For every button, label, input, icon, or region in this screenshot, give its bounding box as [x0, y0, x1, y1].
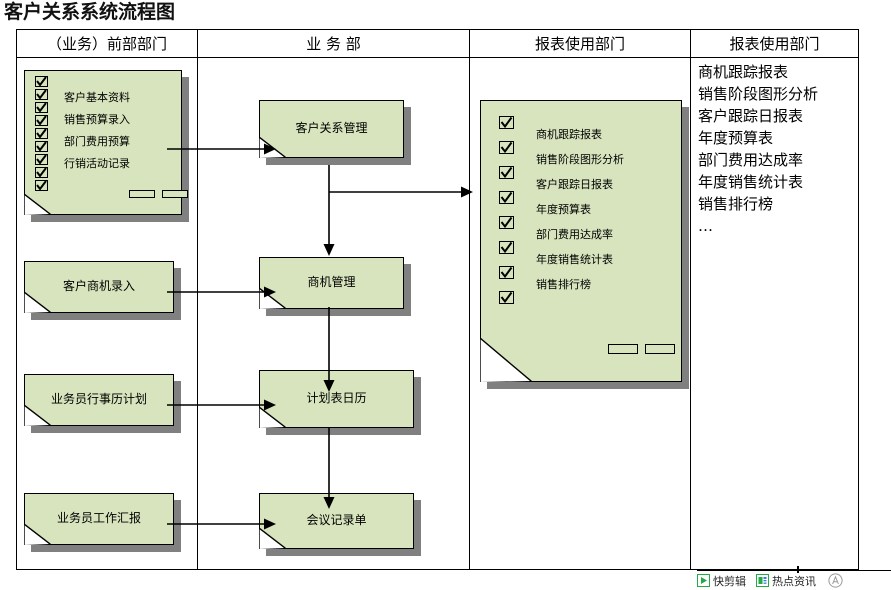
connector-calendar-down-to-meeting: [322, 428, 336, 510]
document-row-list: 商机跟踪报表 销售阶段图形分析 客户跟踪日报表 年度预算表 部门费用达成率 年度…: [536, 122, 624, 297]
checkmark-box-icon: [499, 291, 514, 304]
report-list-item: 销售排行榜: [698, 193, 818, 215]
box-customer-relationship-management[interactable]: 客户关系管理: [259, 100, 404, 158]
document-row: 部门费用达成率: [536, 222, 624, 247]
page-fold-corner-icon: [24, 194, 51, 215]
box-salesperson-calendar-plan[interactable]: 业务员行事历计划: [24, 374, 174, 426]
report-list-item: …: [698, 215, 818, 237]
document-mini-button[interactable]: [645, 344, 675, 354]
column-divider-1: [197, 30, 198, 569]
connector-opportunity-down-to-calendar: [322, 307, 336, 393]
taskbar[interactable]: 快剪辑 热点资讯: [697, 570, 891, 590]
box-salesperson-work-report[interactable]: 业务员工作汇报: [24, 493, 174, 545]
checkmark-box-icon: [35, 102, 48, 113]
checkmark-box-icon: [35, 141, 48, 152]
checkmark-box-icon: [35, 154, 48, 165]
report-list-item: 客户跟踪日报表: [698, 105, 818, 127]
document-customer-data-entry[interactable]: 客户基本资料 销售预算录入 部门费用预算 行销活动记录: [24, 70, 182, 215]
checkmark-box-icon: [499, 191, 514, 204]
checkmark-box-icon: [499, 116, 514, 129]
column-divider-3: [690, 30, 691, 569]
document-mini-button[interactable]: [608, 344, 638, 354]
checkmark-box-icon: [35, 115, 48, 126]
connector-opportunity-entry-to-opportunity-mgmt: [167, 285, 277, 299]
box-meeting-record-form[interactable]: 会议记录单: [259, 493, 414, 549]
document-row: 商机跟踪报表: [536, 122, 624, 147]
document-row: 部门费用预算: [64, 131, 130, 153]
document-button-group[interactable]: [129, 190, 188, 198]
document-row: 年度销售统计表: [536, 247, 624, 272]
checkmark-box-icon: [499, 216, 514, 229]
column-divider-2: [469, 30, 470, 569]
checkmark-box-icon: [499, 141, 514, 154]
swimlane-header-row: （业务）前部部门 业 务 部 报表使用部门 报表使用部门: [17, 30, 858, 58]
checkmark-box-icon: [35, 76, 48, 87]
document-row: 客户基本资料: [64, 87, 130, 109]
connector-customer-data-to-crm: [167, 142, 277, 156]
report-list-item: 部门费用达成率: [698, 149, 818, 171]
taskbar-item-quick-edit[interactable]: 快剪辑: [697, 573, 746, 589]
connector-calendar-plan-to-schedule: [167, 398, 277, 412]
news-panel-icon: [756, 574, 769, 587]
box-customer-opportunity-entry[interactable]: 客户商机录入: [24, 261, 174, 313]
document-row: 销售阶段图形分析: [536, 147, 624, 172]
box-schedule-calendar[interactable]: 计划表日历: [259, 370, 414, 428]
column-header-business-department: 业 务 部: [198, 30, 469, 58]
document-row-list: 客户基本资料 销售预算录入 部门费用预算 行销活动记录: [64, 87, 130, 175]
play-button-icon: [697, 574, 710, 587]
page-fold-corner-icon: [480, 338, 532, 382]
connector-middle-to-report-document: [329, 185, 474, 199]
taskbar-tick-mark: [797, 566, 799, 573]
page-fold-corner-icon: [24, 405, 51, 426]
page-title: 客户关系系统流程图: [4, 0, 175, 24]
document-row: 销售预算录入: [64, 109, 130, 131]
page-fold-corner-icon: [259, 528, 286, 549]
report-list-item: 销售阶段图形分析: [698, 83, 818, 105]
document-report-output[interactable]: 商机跟踪报表 销售阶段图形分析 客户跟踪日报表 年度预算表 部门费用达成率 年度…: [480, 100, 682, 382]
document-row: 客户跟踪日报表: [536, 172, 624, 197]
document-mini-button[interactable]: [129, 190, 155, 198]
checkmark-box-icon: [35, 167, 48, 178]
taskbar-item-label: 快剪辑: [713, 573, 746, 589]
report-name-list: 商机跟踪报表 销售阶段图形分析 客户跟踪日报表 年度预算表 部门费用达成率 年度…: [698, 61, 818, 237]
document-row: 销售排行榜: [536, 272, 624, 297]
taskbar-item-hot-news[interactable]: 热点资讯: [756, 573, 816, 589]
document-mini-button[interactable]: [162, 190, 188, 198]
connector-work-report-to-meeting-record: [167, 517, 277, 531]
document-row: 行销活动记录: [64, 153, 130, 175]
report-list-item: 年度销售统计表: [698, 171, 818, 193]
checkbox-icon-column: [35, 76, 48, 193]
column-header-report-users-1: 报表使用部门: [470, 30, 690, 58]
page-fold-corner-icon: [24, 292, 51, 313]
connector-crm-down-to-opportunity: [322, 165, 336, 257]
checkmark-box-icon: [35, 180, 48, 191]
report-list-item: 年度预算表: [698, 127, 818, 149]
page-fold-corner-icon: [24, 524, 51, 545]
column-header-front-department: （业务）前部部门: [17, 30, 197, 58]
checkmark-box-icon: [499, 266, 514, 279]
document-row: 年度预算表: [536, 197, 624, 222]
flowchart-swimlane-table: （业务）前部部门 业 务 部 报表使用部门 报表使用部门: [16, 29, 859, 570]
checkmark-box-icon: [499, 166, 514, 179]
report-list-item: 商机跟踪报表: [698, 61, 818, 83]
circle-a-icon[interactable]: [828, 573, 843, 588]
box-opportunity-management[interactable]: 商机管理: [259, 257, 404, 309]
checkmark-box-icon: [35, 128, 48, 139]
checkmark-box-icon: [499, 241, 514, 254]
column-header-report-users-2: 报表使用部门: [691, 30, 858, 58]
checkmark-box-icon: [35, 89, 48, 100]
taskbar-item-label: 热点资讯: [772, 573, 816, 589]
document-button-group[interactable]: [608, 344, 675, 354]
checkbox-icon-column: [499, 116, 514, 306]
